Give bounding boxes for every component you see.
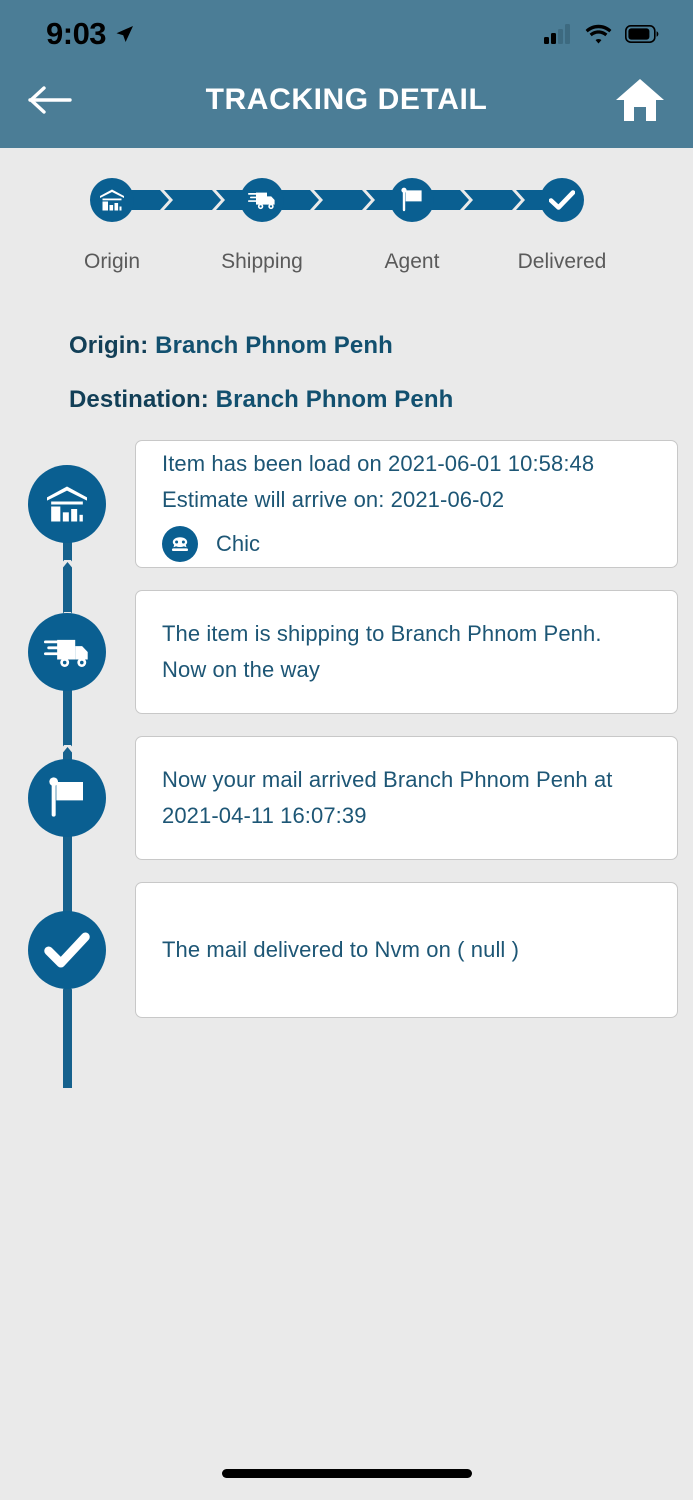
destination-row: Destination: Branch Phnom Penh — [69, 386, 693, 414]
timeline-card[interactable]: Now your mail arrived Branch Phnom Penh … — [135, 736, 678, 860]
destination-separator: : — [201, 386, 216, 413]
event-line-1: Item has been load on 2021-06-01 10:58:4… — [162, 446, 651, 482]
status-bar-right — [544, 24, 659, 44]
event-line-1: The item is shipping to Branch Phnom Pen… — [162, 616, 651, 687]
timeline-node-origin[interactable] — [28, 465, 106, 543]
warehouse-icon — [99, 188, 125, 212]
warehouse-icon — [45, 484, 89, 524]
battery-full-icon — [625, 25, 659, 43]
stepper-chevron-icon — [512, 190, 526, 210]
tracking-timeline: Item has been load on 2021-06-01 10:58:4… — [0, 440, 693, 1018]
timeline-icon-wrap — [0, 440, 106, 568]
delivery-truck-icon — [248, 190, 276, 210]
timeline-card[interactable]: The mail delivered to Nvm on ( null ) — [135, 882, 678, 1018]
contact-row[interactable]: Chic — [162, 526, 651, 562]
timeline-event: Item has been load on 2021-06-01 10:58:4… — [0, 440, 693, 568]
flag-icon — [47, 776, 87, 820]
timeline-node-agent[interactable] — [28, 759, 106, 837]
stepper-label-origin: Origin — [37, 250, 187, 274]
destination-label: Destination — [69, 386, 201, 413]
progress-stepper: Origin Shipping Agent Delivered — [0, 178, 693, 288]
stepper-node-shipping[interactable] — [240, 178, 284, 222]
stepper-label-shipping: Shipping — [187, 250, 337, 274]
wifi-icon — [585, 24, 612, 44]
stepper-bar-2 — [278, 190, 402, 210]
origin-separator: : — [140, 332, 155, 359]
stepper-chevron-icon — [362, 190, 376, 210]
timeline-icon-wrap — [0, 736, 106, 860]
stepper-bar-3 — [428, 190, 552, 210]
timeline-event: The item is shipping to Branch Phnom Pen… — [0, 590, 693, 714]
back-arrow-icon — [28, 83, 74, 117]
event-line-1: The mail delivered to Nvm on ( null ) — [162, 932, 651, 968]
timeline-event: The mail delivered to Nvm on ( null ) — [0, 882, 693, 1018]
stepper-chevron-icon — [460, 190, 474, 210]
timeline-event: Now your mail arrived Branch Phnom Penh … — [0, 736, 693, 860]
check-icon — [44, 929, 90, 971]
location-arrow-icon — [113, 23, 135, 45]
timeline-icon-wrap — [0, 882, 106, 1018]
page-title: TRACKING DETAIL — [0, 83, 693, 117]
timeline-icon-wrap — [0, 590, 106, 714]
status-bar-clock: 9:03 — [46, 16, 106, 52]
stepper-chevron-icon — [212, 190, 226, 210]
tracking-detail-screen: 9:03 — [0, 0, 693, 1500]
contact-name: Chic — [216, 531, 260, 557]
timeline-card[interactable]: The item is shipping to Branch Phnom Pen… — [135, 590, 678, 714]
stepper-node-origin[interactable] — [90, 178, 134, 222]
stepper-bar-1 — [128, 190, 252, 210]
stepper-node-agent[interactable] — [390, 178, 434, 222]
status-bar-left: 9:03 — [46, 16, 135, 52]
telephone-glyph-icon — [169, 533, 191, 555]
home-icon — [615, 77, 665, 123]
origin-label: Origin — [69, 332, 140, 359]
event-line-2: Estimate will arrive on: 2021-06-02 — [162, 482, 651, 518]
delivery-truck-icon — [44, 635, 90, 669]
home-button[interactable] — [615, 77, 665, 123]
stepper-chevron-icon — [160, 190, 174, 210]
timeline-node-delivered[interactable] — [28, 911, 106, 989]
timeline-card[interactable]: Item has been load on 2021-06-01 10:58:4… — [135, 440, 678, 568]
stepper-node-delivered[interactable] — [540, 178, 584, 222]
stepper-label-agent: Agent — [337, 250, 487, 274]
home-indicator — [222, 1469, 472, 1478]
flag-icon — [400, 187, 424, 213]
stepper-chevron-icon — [310, 190, 324, 210]
stepper-label-delivered: Delivered — [487, 250, 637, 274]
shipment-summary: Origin: Branch Phnom Penh Destination: B… — [0, 332, 693, 414]
status-bar: 9:03 — [0, 0, 693, 62]
timeline-node-shipping[interactable] — [28, 613, 106, 691]
telephone-icon — [162, 526, 198, 562]
destination-value: Branch Phnom Penh — [216, 386, 454, 413]
check-icon — [549, 188, 575, 212]
origin-value: Branch Phnom Penh — [155, 332, 393, 359]
origin-row: Origin: Branch Phnom Penh — [69, 332, 693, 360]
back-button[interactable] — [28, 83, 80, 117]
cellular-signal-icon — [544, 24, 572, 44]
navigation-bar: TRACKING DETAIL — [0, 62, 693, 148]
event-line-1: Now your mail arrived Branch Phnom Penh … — [162, 762, 651, 833]
